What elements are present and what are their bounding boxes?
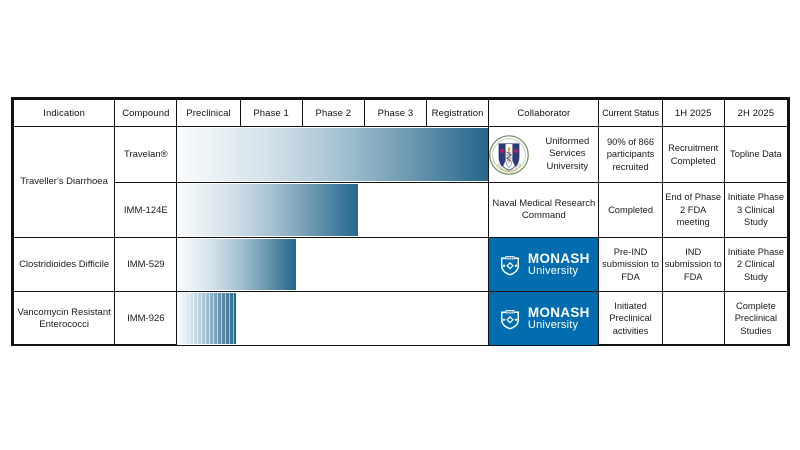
usu-seal-icon <box>489 135 529 175</box>
monash-wordmark-line1: MONASH <box>528 252 590 266</box>
cell-compound-travelan: Travelan® <box>115 127 177 183</box>
development-pipeline-table: Indication Compound Preclinical Phase 1 … <box>13 99 788 346</box>
progress-bar-track-imm-124e <box>177 183 489 238</box>
cell-1h-2025-imm-529: IND submission to FDA <box>662 238 724 292</box>
collaborator-name-usu: Uniformed Services University <box>536 136 598 174</box>
cell-collaborator-nmrc: Naval Medical Research Command <box>489 183 599 238</box>
cell-1h-2025-travelan: Recruitment Completed <box>662 127 724 183</box>
collaborator-name-nmrc: Naval Medical Research Command <box>492 198 595 222</box>
column-header-phase-1: Phase 1 <box>240 100 302 127</box>
monash-shield-icon <box>498 253 522 277</box>
table-row: IMM-124E Naval Medical Research Command … <box>14 183 788 238</box>
monash-logo-icon: MONASH University <box>489 292 598 345</box>
monash-wordmark-line2: University <box>528 266 590 277</box>
progress-bar-track-imm-529 <box>177 238 489 292</box>
table-header-row: Indication Compound Preclinical Phase 1 … <box>14 100 788 127</box>
column-header-indication: Indication <box>14 100 115 127</box>
monash-shield-icon <box>498 307 522 331</box>
progress-bar-fill-travelan <box>177 128 488 181</box>
cell-1h-2025-imm-926 <box>662 292 724 346</box>
column-header-collaborator: Collaborator <box>489 100 599 127</box>
column-header-2h-2025: 2H 2025 <box>724 100 787 127</box>
cell-2h-2025-imm-124e: Initiate Phase 3 Clinical Study <box>724 183 787 238</box>
cell-current-status-travelan: 90% of 866 participants recruited <box>599 127 662 183</box>
progress-bar-fill-imm-529 <box>177 239 295 290</box>
progress-bar-fill-imm-926 <box>177 293 236 344</box>
cell-compound-imm-124e: IMM-124E <box>115 183 177 238</box>
cell-current-status-imm-124e: Completed <box>599 183 662 238</box>
monash-logo-icon: MONASH University <box>489 238 598 291</box>
cell-2h-2025-travelan: Topline Data <box>724 127 787 183</box>
cell-collaborator-monash: MONASH University <box>489 238 599 292</box>
progress-bar-fill-imm-124e <box>177 184 357 236</box>
table-row: Traveller's Diarrhoea Travelan® <box>14 127 788 183</box>
cell-compound-imm-529: IMM-529 <box>115 238 177 292</box>
column-header-phase-3: Phase 3 <box>364 100 426 127</box>
column-header-registration: Registration <box>427 100 489 127</box>
cell-indication-vancomycin-resistant-enterococci: Vancomycin Resistant Enterococci <box>14 292 115 346</box>
column-header-1h-2025: 1H 2025 <box>662 100 724 127</box>
cell-current-status-imm-529: Pre-IND submission to FDA <box>599 238 662 292</box>
column-header-preclinical: Preclinical <box>177 100 240 127</box>
column-header-phase-2: Phase 2 <box>302 100 364 127</box>
cell-indication-clostridioides-difficile: Clostridioides Difficile <box>14 238 115 292</box>
progress-bar-track-imm-926 <box>177 292 489 346</box>
monash-wordmark-line1: MONASH <box>528 306 590 320</box>
progress-bar-track-travelan <box>177 127 489 183</box>
cell-compound-imm-926: IMM-926 <box>115 292 177 346</box>
monash-wordmark: MONASH University <box>528 252 590 278</box>
column-header-compound: Compound <box>115 100 177 127</box>
table-row: Vancomycin Resistant Enterococci IMM-926 <box>14 292 788 346</box>
cell-1h-2025-imm-124e: End of Phase 2 FDA meeting <box>662 183 724 238</box>
cell-indication-travellers-diarrhoea: Traveller's Diarrhoea <box>14 127 115 238</box>
monash-wordmark-line2: University <box>528 320 590 331</box>
cell-collaborator-monash: MONASH University <box>489 292 599 346</box>
cell-2h-2025-imm-926: Complete Preclinical Studies <box>724 292 787 346</box>
column-header-current-status: Current Status <box>599 100 662 127</box>
table-row: Clostridioides Difficile IMM-529 <box>14 238 788 292</box>
cell-current-status-imm-926: Initiated Preclinical activities <box>599 292 662 346</box>
pipeline-table-container: Indication Compound Preclinical Phase 1 … <box>11 97 790 346</box>
cell-collaborator-usu: Uniformed Services University <box>489 127 599 183</box>
cell-2h-2025-imm-529: Initiate Phase 2 Clinical Study <box>724 238 787 292</box>
monash-wordmark: MONASH University <box>528 306 590 332</box>
